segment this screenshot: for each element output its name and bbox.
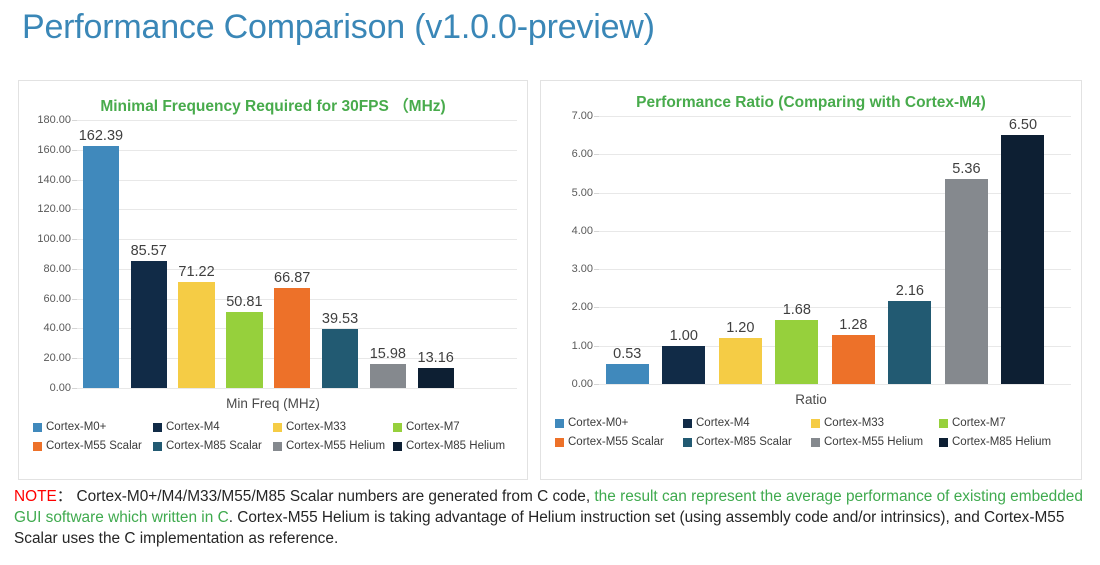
legend-label: Cortex-M55 Helium [286, 440, 385, 452]
bar[interactable] [945, 179, 988, 384]
y-axis-tick-label: 7.00 [572, 110, 593, 122]
bar-value-label: 1.00 [656, 328, 713, 344]
bar-value-label: 66.87 [268, 270, 316, 286]
bar-item[interactable]: 66.87 [268, 120, 316, 388]
bar-item[interactable]: 5.36 [938, 116, 995, 384]
bar[interactable] [370, 364, 406, 388]
legend-swatch-icon [33, 423, 42, 432]
bar-item[interactable]: 39.53 [316, 120, 364, 388]
bar-value-label: 15.98 [364, 346, 412, 362]
bar-group: 0.531.001.201.681.282.165.366.50 [599, 116, 1071, 384]
bar-item[interactable]: 85.57 [125, 120, 173, 388]
legend-label: Cortex-M4 [166, 421, 220, 433]
note-text: NOTE： Cortex-M0+/M4/M33/M55/M85 Scalar n… [14, 487, 1088, 550]
y-axis-tick-label: 0.00 [572, 378, 593, 390]
bar-item[interactable]: 1.68 [769, 116, 826, 384]
y-axis-tick-label: 1.00 [572, 340, 593, 352]
legend-item[interactable]: Cortex-M85 Scalar [683, 436, 811, 448]
bar[interactable] [178, 282, 214, 388]
note-separator: ： [57, 488, 72, 505]
y-axis-tick-label: 2.00 [572, 301, 593, 313]
bar[interactable] [662, 346, 705, 384]
legend-swatch-icon [273, 442, 282, 451]
legend-swatch-icon [555, 438, 564, 447]
legend-item[interactable]: Cortex-M0+ [33, 421, 153, 433]
bar-item[interactable]: 6.50 [995, 116, 1052, 384]
y-axis-tick-label: 6.00 [572, 148, 593, 160]
gridline [77, 388, 517, 389]
y-axis-tick-label: 0.00 [50, 382, 71, 394]
y-axis-tick-label: 140.00 [37, 174, 71, 186]
legend-label: Cortex-M7 [406, 421, 460, 433]
legend-label: Cortex-M55 Helium [824, 436, 923, 448]
axis-tick-mark [72, 388, 77, 389]
legend-swatch-icon [393, 442, 402, 451]
bar-value-label: 13.16 [412, 350, 460, 366]
legend-item[interactable]: Cortex-M55 Scalar [555, 436, 683, 448]
axis-tick-mark [594, 384, 599, 385]
legend-swatch-icon [683, 438, 692, 447]
legend-label: Cortex-M85 Scalar [696, 436, 792, 448]
bar-item[interactable]: 1.00 [656, 116, 713, 384]
gridline [599, 384, 1071, 385]
chart-title: Performance Ratio (Comparing with Cortex… [541, 94, 1081, 112]
chart-legend: Cortex-M0+Cortex-M4Cortex-M33Cortex-M7Co… [19, 421, 527, 452]
chart-panel-performance-ratio: Performance Ratio (Comparing with Cortex… [540, 80, 1082, 480]
legend-swatch-icon [153, 423, 162, 432]
bar-item[interactable]: 2.16 [882, 116, 939, 384]
y-axis-tick-label: 160.00 [37, 144, 71, 156]
bar-value-label: 162.39 [77, 128, 125, 144]
bar[interactable] [322, 329, 358, 388]
x-axis-label: Min Freq (MHz) [19, 396, 527, 411]
bar-item[interactable]: 15.98 [364, 120, 412, 388]
chart-panel-min-frequency: Minimal Frequency Required for 30FPS （MH… [18, 80, 528, 480]
legend-item[interactable]: Cortex-M85 Helium [939, 436, 1067, 448]
y-axis-tick-label: 180.00 [37, 114, 71, 126]
bar-value-label: 50.81 [220, 294, 268, 310]
legend-item[interactable]: Cortex-M33 [811, 417, 939, 429]
bar[interactable] [418, 368, 454, 388]
bar-value-label: 1.28 [825, 317, 882, 333]
legend-swatch-icon [939, 419, 948, 428]
y-axis: 0.001.002.003.004.005.006.007.00 [541, 116, 599, 384]
legend-label: Cortex-M7 [952, 417, 1006, 429]
legend-swatch-icon [939, 438, 948, 447]
legend-item[interactable]: Cortex-M7 [939, 417, 1067, 429]
legend-label: Cortex-M85 Helium [406, 440, 505, 452]
slide-root: Performance Comparison (v1.0.0-preview) … [0, 0, 1100, 565]
bar-item[interactable]: 162.39 [77, 120, 125, 388]
legend-swatch-icon [273, 423, 282, 432]
bar[interactable] [888, 301, 931, 384]
bar[interactable] [832, 335, 875, 384]
legend-item[interactable]: Cortex-M85 Scalar [153, 440, 273, 452]
bar-value-label: 6.50 [995, 117, 1052, 133]
page-title: Performance Comparison (v1.0.0-preview) [22, 8, 655, 47]
legend-label: Cortex-M4 [696, 417, 750, 429]
legend-item[interactable]: Cortex-M85 Helium [393, 440, 513, 452]
plot-area: 0.0020.0040.0060.0080.00100.00120.00140.… [19, 120, 527, 388]
y-axis-tick-label: 60.00 [43, 293, 71, 305]
bar-item[interactable]: 13.16 [412, 120, 460, 388]
bar[interactable] [606, 364, 649, 384]
legend-item[interactable]: Cortex-M33 [273, 421, 393, 433]
bar-value-label: 1.20 [712, 320, 769, 336]
chart-legend: Cortex-M0+Cortex-M4Cortex-M33Cortex-M7Co… [541, 417, 1081, 448]
bar-item[interactable]: 1.20 [712, 116, 769, 384]
legend-label: Cortex-M33 [824, 417, 884, 429]
legend-swatch-icon [393, 423, 402, 432]
bar-item[interactable]: 1.28 [825, 116, 882, 384]
bar-item[interactable]: 71.22 [173, 120, 221, 388]
bar-value-label: 0.53 [599, 346, 656, 362]
chart-title: Minimal Frequency Required for 30FPS （MH… [19, 94, 527, 116]
bar[interactable] [226, 312, 262, 388]
y-axis-tick-label: 5.00 [572, 187, 593, 199]
plot-area: 0.001.002.003.004.005.006.007.00 0.531.0… [541, 116, 1081, 384]
legend-swatch-icon [555, 419, 564, 428]
bar-value-label: 1.68 [769, 302, 826, 318]
legend-label: Cortex-M85 Helium [952, 436, 1051, 448]
legend-item[interactable]: Cortex-M55 Scalar [33, 440, 153, 452]
y-axis-tick-label: 80.00 [43, 263, 71, 275]
y-axis-tick-label: 100.00 [37, 233, 71, 245]
bar-item[interactable]: 50.81 [220, 120, 268, 388]
y-axis-tick-label: 20.00 [43, 352, 71, 364]
y-axis-tick-label: 120.00 [37, 203, 71, 215]
legend-label: Cortex-M55 Scalar [568, 436, 664, 448]
y-axis-tick-label: 4.00 [572, 225, 593, 237]
legend-swatch-icon [153, 442, 162, 451]
bar[interactable] [274, 288, 310, 388]
legend-item[interactable]: Cortex-M0+ [555, 417, 683, 429]
bar[interactable] [131, 261, 167, 388]
legend-swatch-icon [33, 442, 42, 451]
x-axis-label: Ratio [541, 392, 1081, 407]
y-axis: 0.0020.0040.0060.0080.00100.00120.00140.… [19, 120, 77, 388]
legend-item[interactable]: Cortex-M4 [683, 417, 811, 429]
bar-item[interactable]: 0.53 [599, 116, 656, 384]
charts-row: Minimal Frequency Required for 30FPS （MH… [18, 80, 1082, 480]
y-axis-tick-label: 40.00 [43, 322, 71, 334]
bar[interactable] [1001, 135, 1044, 384]
legend-label: Cortex-M85 Scalar [166, 440, 262, 452]
legend-label: Cortex-M55 Scalar [46, 440, 142, 452]
note-keyword: NOTE [14, 488, 57, 505]
bar-value-label: 85.57 [125, 243, 173, 259]
bar-value-label: 2.16 [882, 283, 939, 299]
legend-label: Cortex-M33 [286, 421, 346, 433]
legend-item[interactable]: Cortex-M7 [393, 421, 513, 433]
legend-swatch-icon [811, 419, 820, 428]
bar[interactable] [719, 338, 762, 384]
bar[interactable] [83, 146, 119, 388]
legend-item[interactable]: Cortex-M55 Helium [273, 440, 393, 452]
legend-label: Cortex-M0+ [568, 417, 628, 429]
bar-value-label: 71.22 [173, 264, 221, 280]
legend-swatch-icon [811, 438, 820, 447]
y-axis-tick-label: 3.00 [572, 263, 593, 275]
legend-swatch-icon [683, 419, 692, 428]
legend-item[interactable]: Cortex-M4 [153, 421, 273, 433]
legend-item[interactable]: Cortex-M55 Helium [811, 436, 939, 448]
bar-group: 162.3985.5771.2250.8166.8739.5315.9813.1… [77, 120, 517, 388]
bar[interactable] [775, 320, 818, 384]
legend-label: Cortex-M0+ [46, 421, 106, 433]
bar-value-label: 39.53 [316, 311, 364, 327]
note-part-one: Cortex-M0+/M4/M33/M55/M85 Scalar numbers… [76, 488, 594, 505]
bar-value-label: 5.36 [938, 161, 995, 177]
